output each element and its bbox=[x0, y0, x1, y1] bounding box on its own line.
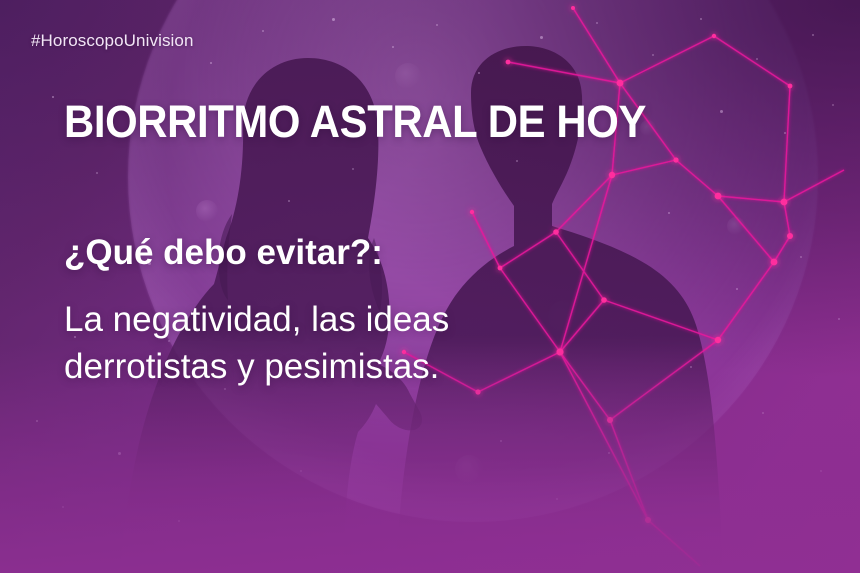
horoscope-card: #HoroscopoUnivision BIORRITMO ASTRAL DE … bbox=[0, 0, 860, 573]
answer-text: La negatividad, las ideas derrotistas y … bbox=[64, 296, 764, 390]
text-content: #HoroscopoUnivision BIORRITMO ASTRAL DE … bbox=[0, 0, 860, 573]
hashtag-label: #HoroscopoUnivision bbox=[31, 31, 194, 51]
answer-line-2: derrotistas y pesimistas. bbox=[64, 343, 764, 390]
question-label: ¿Qué debo evitar?: bbox=[64, 232, 383, 274]
page-title: BIORRITMO ASTRAL DE HOY bbox=[64, 97, 646, 147]
answer-line-1: La negatividad, las ideas bbox=[64, 296, 764, 343]
